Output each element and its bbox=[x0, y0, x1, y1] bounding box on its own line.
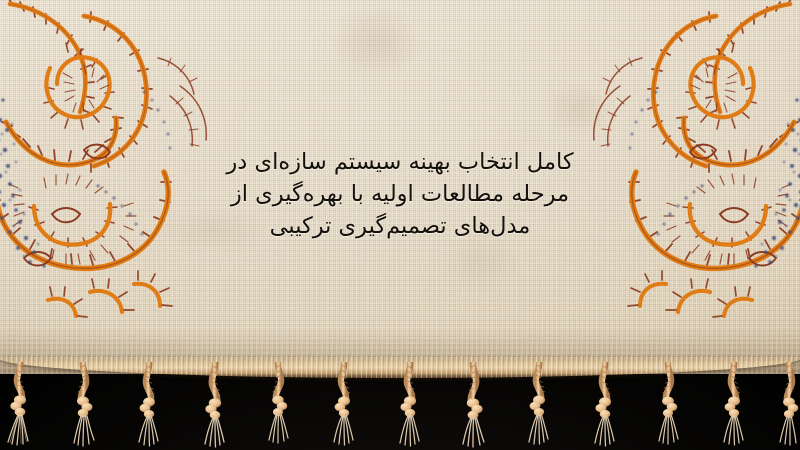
slide-canvas: کامل انتخاب بهینه سیستم سازه‌ای در مرحله… bbox=[0, 0, 800, 450]
tassel-icon bbox=[134, 362, 164, 448]
tassel-icon bbox=[719, 362, 749, 448]
tassel-icon bbox=[69, 362, 99, 448]
tassel-icon bbox=[459, 362, 489, 448]
tassel-icon bbox=[589, 362, 619, 448]
tassel-icon bbox=[775, 362, 800, 448]
tassel-icon bbox=[199, 362, 229, 448]
title-line-1: کامل انتخاب بهینه سیستم سازه‌ای در bbox=[176, 146, 624, 178]
title-line-2: مرحله مطالعات اولیه با بهره‌گیری از bbox=[176, 178, 624, 210]
title-line-3: مدل‌های تصمیم‌گیری ترکیبی bbox=[176, 210, 624, 242]
tassel-icon bbox=[329, 362, 359, 448]
tassel-icon bbox=[524, 362, 554, 448]
tassel-icon bbox=[264, 362, 294, 448]
tassel-icon bbox=[654, 362, 684, 448]
tassel-fringe bbox=[0, 362, 800, 450]
page-title: کامل انتخاب بهینه سیستم سازه‌ای در مرحله… bbox=[176, 146, 624, 242]
tassel-icon bbox=[4, 362, 34, 448]
tassel-icon bbox=[394, 362, 424, 448]
